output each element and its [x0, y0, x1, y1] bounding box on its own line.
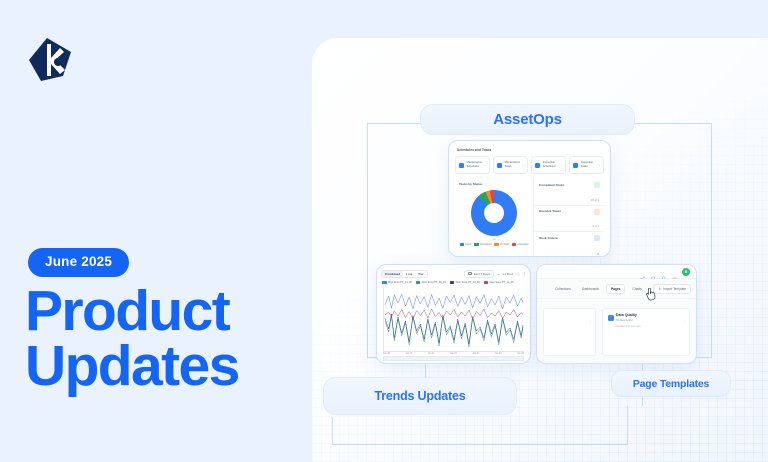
pill-assetops: AssetOps	[420, 104, 635, 135]
import-template-button[interactable]: Import Template	[653, 284, 691, 294]
more-options-icon[interactable]: ⋮	[588, 319, 592, 324]
connector-outer-right	[627, 406, 628, 445]
series-swatch	[450, 281, 455, 283]
dashboard-tile[interactable]: Inspection Tasks ›	[569, 156, 604, 174]
info-icon[interactable]: ⓘ	[517, 271, 520, 276]
chevron-right-icon: ›	[599, 163, 600, 167]
metric-row: Work Orders 8	[534, 232, 604, 257]
page-title-line-2: Updates	[25, 339, 315, 394]
connector-line-left	[367, 123, 368, 358]
x-tick: Jan 23	[472, 353, 479, 355]
import-template-label: Import Template	[663, 287, 686, 291]
page-title: Product Updates	[25, 284, 315, 393]
metric-name: Completed Tasks	[539, 183, 600, 187]
tasks-by-status-panel: Tasks by Status 40 Open Completed On Hol…	[455, 179, 534, 257]
tile-label: Inspection Tasks	[581, 161, 597, 169]
date-range-value: Last 7 Days	[474, 272, 490, 276]
left-panel: June 2025 Product Updates	[0, 0, 312, 462]
trends-toolbar: Combined Line Bar Last 7 Days ⌄ x1 Hour …	[381, 269, 526, 278]
donut-legend: Open Completed On Hold Cancelled	[457, 243, 531, 246]
connector-line-right	[711, 123, 712, 358]
tab-charts[interactable]: Charts	[628, 285, 645, 293]
series-legend-item: Dow Temp PT_14_05	[484, 281, 514, 284]
dashboard-tile-row: Maintenance Schedules › Maintenance Task…	[455, 156, 604, 174]
sample-rate-value[interactable]: x1 Hour	[503, 272, 514, 276]
dashboard-tile[interactable]: Inspection Schedules ›	[531, 156, 566, 174]
upload-icon	[658, 287, 661, 290]
trends-screenshot: Combined Line Bar Last 7 Days ⌄ x1 Hour …	[376, 264, 531, 364]
x-tick: Jan 25	[517, 353, 524, 355]
legend-swatch	[512, 243, 517, 246]
series-legend-item: Dow Temp PT_14_00	[382, 281, 412, 284]
tile-icon	[459, 163, 464, 168]
page-title-line-1: Product	[25, 284, 315, 339]
metric-value: 3 of 1	[592, 225, 599, 228]
share-icon[interactable]	[640, 269, 646, 275]
x-tick: Jan 18	[383, 353, 390, 355]
x-tick: Jan 20	[405, 353, 412, 355]
legend-swatch	[460, 243, 465, 246]
x-tick: Jan 22	[450, 353, 457, 355]
more-options-icon[interactable]: ⋮	[683, 319, 687, 324]
connector-outer-left	[332, 417, 333, 445]
legend-label: Cancelled	[518, 243, 529, 246]
clipboard-icon	[594, 235, 600, 241]
metric-value: 8	[598, 253, 600, 256]
tab-collections[interactable]: Collections	[551, 285, 575, 293]
chevron-right-icon: ›	[561, 163, 562, 167]
legend-label: Open	[465, 243, 471, 246]
trends-x-axis: Jan 18 Jan 20 Jan 21 Jan 22 Jan 23 Jan 2…	[381, 352, 526, 355]
series-swatch	[416, 281, 421, 283]
chart-mode-segmented-control[interactable]: Combined Line Bar	[381, 270, 428, 278]
tile-icon	[573, 163, 578, 168]
page-templates-topbar: B	[537, 265, 696, 279]
template-subtitle: No description	[616, 319, 684, 322]
dashboard-section-title: Schedules and Tasks	[457, 148, 604, 152]
connector-outer-bottom	[332, 444, 628, 445]
tab-dashboards[interactable]: Dashboards	[578, 285, 603, 293]
tasks-by-status-title: Tasks by Status	[459, 182, 531, 186]
template-card[interactable]: ⋮	[543, 308, 596, 356]
legend-item: Completed	[474, 243, 491, 246]
search-icon[interactable]	[651, 269, 657, 275]
chevron-right-icon: ›	[523, 163, 524, 167]
assetops-dashboard-screenshot: Schedules and Tasks Maintenance Schedule…	[448, 140, 611, 257]
legend-swatch	[494, 243, 499, 246]
tile-label: Maintenance Tasks	[505, 161, 521, 169]
series-swatch	[382, 281, 387, 283]
page-templates-screenshot: B Collections Dashboards Pages Charts Im…	[536, 264, 697, 364]
series-swatch	[484, 281, 489, 283]
x-tick: Jan 21	[428, 353, 435, 355]
gear-icon[interactable]	[672, 269, 678, 275]
page-templates-body: ⋮ Data Quality No description Updated 13…	[537, 299, 696, 364]
pill-trends-updates: Trends Updates	[323, 377, 517, 415]
dashboard-tile[interactable]: Maintenance Schedules ›	[455, 156, 490, 174]
series-legend-item: Dow Temp PT_10_01	[416, 281, 446, 284]
check-circle-icon	[594, 182, 600, 188]
x-tick: Jan 24	[495, 353, 502, 355]
tasks-by-status-donut-chart: 40	[471, 190, 517, 236]
legend-swatch	[474, 243, 479, 246]
template-card[interactable]: Data Quality No description Updated 13 h…	[602, 308, 690, 356]
legend-item: On Hold	[494, 243, 508, 246]
chart-range-scrollbar[interactable]	[383, 356, 524, 361]
mode-combined[interactable]: Combined	[382, 271, 403, 277]
right-panel: AssetOps Schedules and Tasks Maintenance…	[312, 0, 768, 462]
legend-item: Cancelled	[512, 243, 528, 246]
metric-value: 16 of 1	[591, 199, 599, 202]
mode-bar[interactable]: Bar	[416, 271, 427, 277]
mode-line[interactable]: Line	[403, 271, 415, 277]
avatar[interactable]: B	[682, 268, 690, 276]
metric-row: Overdue Tasks 3 of 1	[534, 206, 604, 233]
mouse-cursor-icon	[645, 288, 656, 301]
trends-chart-svg	[384, 286, 524, 351]
page-templates-tabs: Collections Dashboards Pages Charts Impo…	[537, 279, 696, 299]
date-range-picker[interactable]: Last 7 Days	[464, 270, 494, 278]
calendar-icon	[468, 272, 471, 275]
template-icon	[608, 315, 614, 321]
release-month-badge: June 2025	[28, 248, 129, 277]
pill-page-templates: Page Templates	[611, 370, 731, 397]
legend-label: On Hold	[500, 243, 509, 246]
series-label: Dow Temp PT_10_01	[422, 281, 446, 284]
series-label: Dow Temp PT_14_00	[388, 281, 412, 284]
dashboard-body: Tasks by Status 40 Open Completed On Hol…	[455, 179, 604, 257]
tab-pages[interactable]: Pages	[606, 284, 625, 294]
warning-icon	[594, 209, 600, 215]
metric-row: Completed Tasks 16 of 1	[534, 179, 604, 206]
template-title: Data Quality	[616, 313, 684, 317]
metric-name: Overdue Tasks	[539, 209, 600, 213]
trends-line-chart	[383, 286, 524, 352]
legend-label: Completed	[480, 243, 492, 246]
dashboard-tile[interactable]: Maintenance Tasks ›	[493, 156, 528, 174]
template-meta: Updated 13 hours ago	[616, 325, 684, 328]
dashboard-metrics: Completed Tasks 16 of 1 Overdue Tasks 3 …	[534, 179, 604, 257]
tile-icon	[497, 163, 502, 168]
tile-icon	[535, 163, 540, 168]
series-label: Dow Temp PT_14_05	[490, 281, 514, 284]
tile-label: Maintenance Schedules	[467, 161, 483, 169]
series-legend-item: Dow Temp PT_14_00	[450, 281, 480, 284]
metric-name: Work Orders	[539, 236, 600, 240]
tile-label: Inspection Schedules	[543, 161, 559, 169]
chevron-down-icon[interactable]: ⌄	[497, 272, 500, 276]
legend-item: Open	[460, 243, 472, 246]
donut-center-label: 40	[471, 238, 517, 241]
chevron-right-icon: ›	[485, 163, 486, 167]
bell-icon[interactable]	[661, 269, 667, 275]
trends-series-legend: Dow Temp PT_14_00 Dow Temp PT_10_01 Dow …	[382, 281, 526, 284]
series-label: Dow Temp PT_14_00	[456, 281, 480, 284]
more-options-icon[interactable]: ⋮	[523, 271, 526, 276]
kanda-k-logo-icon	[27, 36, 75, 83]
